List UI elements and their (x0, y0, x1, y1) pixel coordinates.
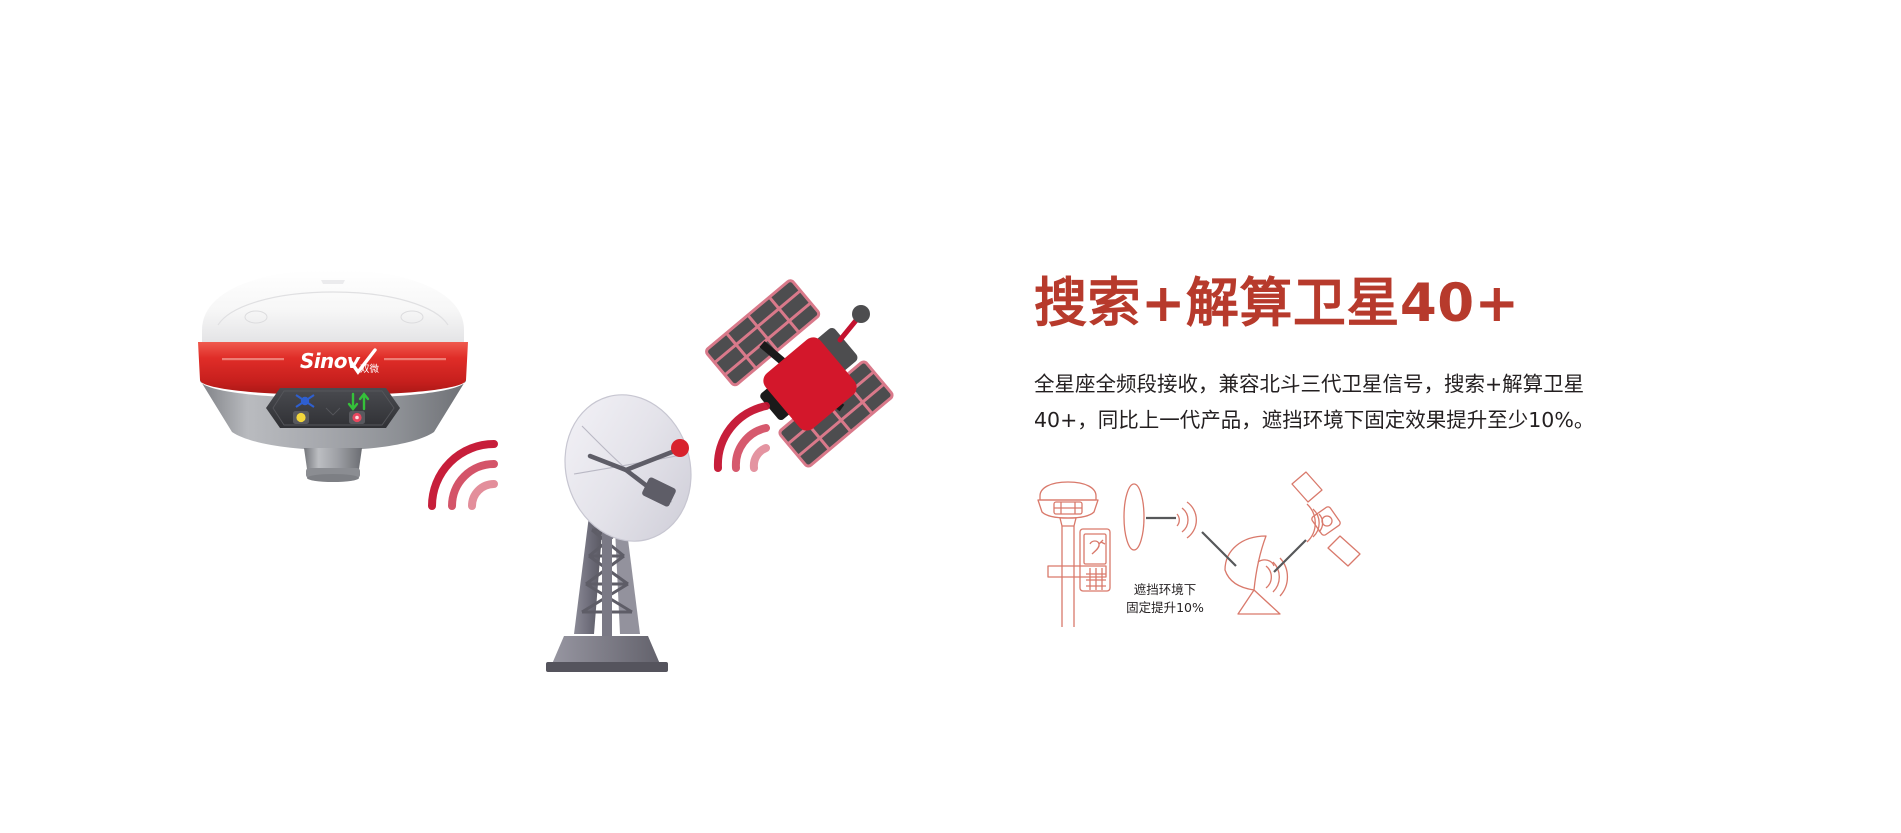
copy-block: 搜索+解算卫星40+ 全星座全频段接收，兼容北斗三代卫星信号，搜索+解算卫星40… (1034, 275, 1674, 439)
ground-station-svg (520, 390, 710, 690)
dish-emitter-tip (671, 439, 689, 457)
band-highlight-left (222, 358, 284, 360)
tower-base-plinth (546, 662, 668, 672)
power-led[interactable] (293, 411, 309, 424)
tower-base (552, 636, 660, 664)
antenna-tip (852, 305, 870, 323)
diagram-obstruction (1124, 484, 1144, 550)
promo-banner: Sinov 双微 (0, 0, 1901, 833)
signal-wave-satellite-svg (710, 400, 770, 472)
signal-wave-receiver-svg (428, 440, 500, 512)
signal-wave-from-receiver (428, 440, 500, 512)
antenna-mast (840, 318, 858, 340)
receiver-control-panel (266, 388, 400, 428)
diagram-ground-dish (1225, 536, 1287, 614)
satellite-dish-tower (520, 390, 710, 690)
diagram-caption-line-1: 遮挡环境下 (1100, 581, 1230, 599)
body-paragraph: 全星座全频段接收，兼容北斗三代卫星信号，搜索+解算卫星40+，同比上一代产品，遮… (1034, 367, 1644, 439)
brand-logo-cn: 双微 (360, 363, 380, 375)
receiver-crown-notch (321, 280, 345, 284)
receiver-connector-base (307, 474, 359, 482)
record-led[interactable] (349, 411, 365, 424)
diagram-caption-line-2: 固定提升10% (1100, 599, 1230, 617)
signal-wave-from-satellite (710, 400, 770, 472)
diagram-gnss-receiver (1038, 482, 1098, 526)
band-highlight-right (384, 358, 446, 360)
diagram-caption: 遮挡环境下 固定提升10% (1100, 581, 1230, 617)
product-illustration-group: Sinov 双微 (0, 0, 990, 833)
page-title: 搜索+解算卫星40+ (1034, 275, 1674, 333)
diagram-orbit-satellite (1292, 472, 1360, 566)
diagram-signal-arc-left (1177, 502, 1196, 538)
